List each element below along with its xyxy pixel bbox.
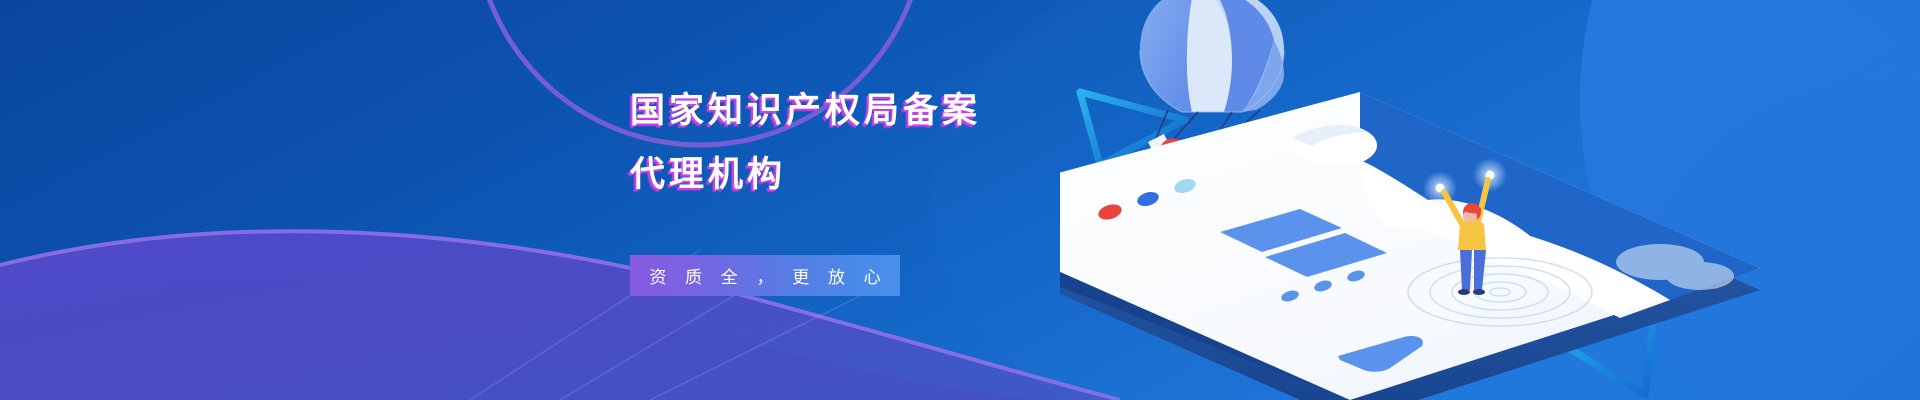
promo-banner: 国家知识产权局备案 代理机构 资 质 全 ， 更 放 心 <box>0 0 1920 400</box>
headline-line-1: 国家知识产权局备案 <box>630 84 1250 137</box>
headline-block: 国家知识产权局备案 代理机构 <box>630 84 1250 201</box>
cta-button-label: 资 质 全 ， 更 放 心 <box>642 263 887 288</box>
headline-line-2: 代理机构 <box>630 148 1250 201</box>
cta-button[interactable]: 资 质 全 ， 更 放 心 <box>630 255 900 296</box>
person-shirt <box>1458 221 1486 250</box>
